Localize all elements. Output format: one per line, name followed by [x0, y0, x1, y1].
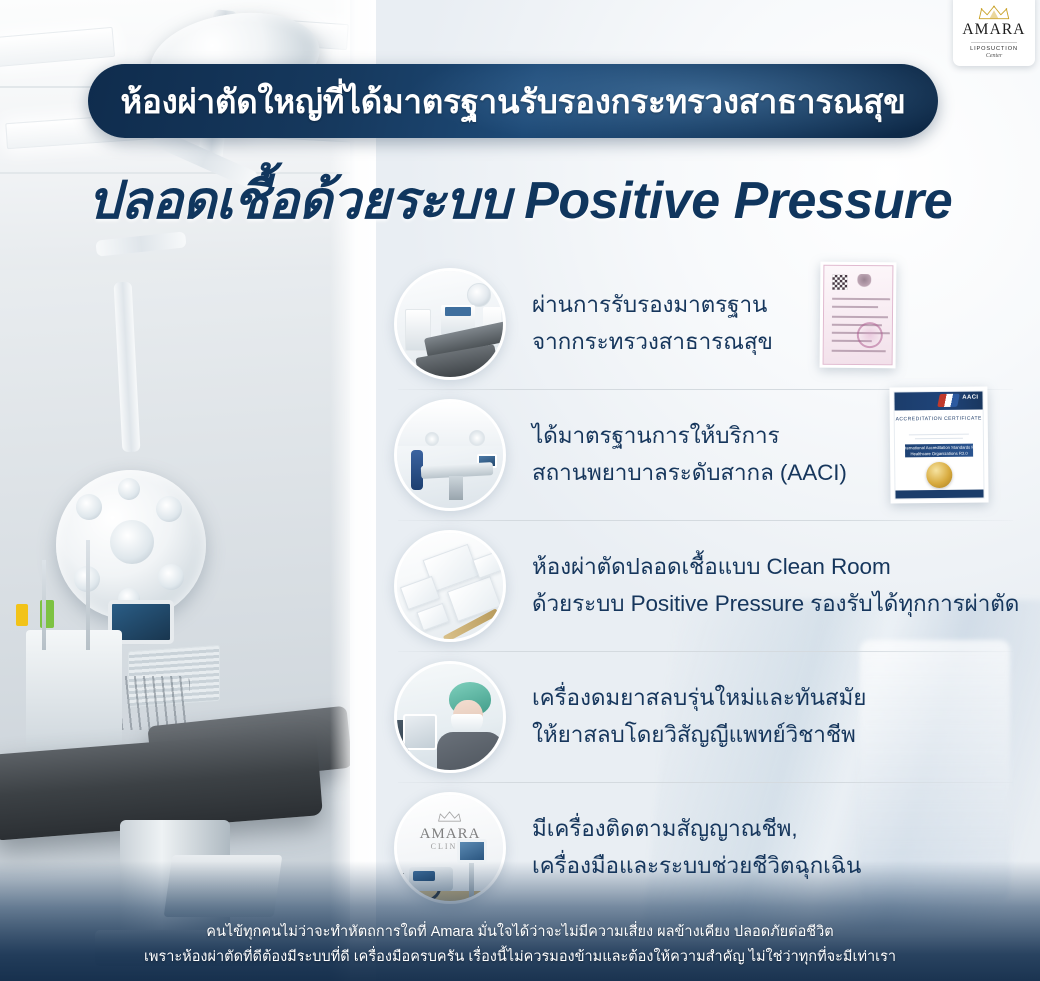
operating-room-photo-thumb [394, 268, 506, 380]
qr-code-icon [832, 275, 847, 290]
list-item-line-1: ได้มาตรฐานการให้บริการ [532, 418, 847, 454]
list-item-line-2: ด้วยระบบ Positive Pressure รองรับได้ทุกก… [532, 586, 1019, 622]
list-item-line-2: ให้ยาสลบโดยวิสัญญีแพทย์วิชาชีพ [532, 717, 866, 753]
footer-line-2: เพราะห้องผ่าตัดที่ดีต้องมีระบบที่ดี เครื… [144, 945, 896, 969]
operating-theatre-photo-thumb [394, 399, 506, 511]
footer-line-1: คนไข้ทุกคนไม่ว่าจะทำหัตถการใดที่ Amara ม… [206, 920, 833, 944]
list-item-text: เครื่องดมยาสลบรุ่นใหม่และทันสมัย ให้ยาสล… [532, 680, 866, 753]
logo-subtitle: LIPOSUCTION [970, 46, 1018, 52]
list-item-line-1: เครื่องดมยาสลบรุ่นใหม่และทันสมัย [532, 680, 866, 716]
ministry-certificate-image [820, 262, 897, 369]
list-item-text: ผ่านการรับรองมาตรฐาน จากกระทรวงสาธารณสุข [532, 287, 773, 360]
logo-subtitle-2: Center [986, 53, 1002, 59]
equipment-cart [26, 630, 122, 750]
gold-medal-icon [926, 462, 952, 488]
page-title: ปลอดเชื้อด้วยระบบ Positive Pressure [0, 158, 1040, 241]
headline-pill: ห้องผ่าตัดใหญ่ที่ได้มาตรฐานรับรองกระทรวง… [88, 64, 938, 138]
list-item-line-2: จากกระทรวงสาธารณสุข [532, 324, 773, 360]
crown-icon [437, 811, 463, 822]
list-item: ได้มาตรฐานการให้บริการ สถานพยาบาลระดับสา… [380, 389, 1040, 520]
certificate-band-text: International Accreditation Standards fo… [895, 445, 983, 459]
pill-text: ห้องผ่าตัดใหญ่ที่ได้มาตรฐานรับรองกระทรวง… [120, 75, 905, 128]
list-item: เครื่องดมยาสลบรุ่นใหม่และทันสมัย ให้ยาสล… [380, 651, 1040, 782]
list-item-line-1: ห้องผ่าตัดปลอดเชื้อแบบ Clean Room [532, 549, 1019, 585]
logo-wordmark: AMARA [962, 22, 1025, 38]
crown-icon [977, 5, 1011, 20]
certificate-title: ACCREDITATION CERTIFICATE [895, 416, 983, 424]
list-item-text: ได้มาตรฐานการให้บริการ สถานพยาบาลระดับสา… [532, 418, 847, 491]
list-item-line-1: ผ่านการรับรองมาตรฐาน [532, 287, 773, 323]
aaci-certificate-image: AACI ACCREDITATION CERTIFICATE Internati… [889, 386, 988, 503]
flags-icon [937, 394, 960, 407]
clean-room-ceiling-photo-thumb [394, 530, 506, 642]
iv-pole [86, 540, 90, 650]
aaci-badge-label: AACI [962, 395, 978, 401]
amara-logo[interactable]: AMARA LIPOSUCTION Center [953, 0, 1035, 66]
surgical-light-post [114, 282, 141, 453]
iv-pole [42, 560, 46, 650]
footer-disclaimer: คนไข้ทุกคนไม่ว่าจะทำหัตถการใดที่ Amara ม… [0, 861, 1040, 981]
feature-list: ผ่านการรับรองมาตรฐาน จากกระทรวงสาธารณสุข [380, 258, 1040, 913]
list-item-line-1: มีเครื่องติดตามสัญญาณชีพ, [532, 811, 861, 847]
list-item: ห้องผ่าตัดปลอดเชื้อแบบ Clean Room ด้วยระ… [380, 520, 1040, 651]
logo-divider [971, 42, 1017, 43]
anesthesiologist-photo-thumb [394, 661, 506, 773]
wall-marker [16, 604, 28, 626]
list-item-text: ห้องผ่าตัดปลอดเชื้อแบบ Clean Room ด้วยระ… [532, 549, 1019, 622]
garuda-emblem-icon [857, 274, 871, 288]
list-item: ผ่านการรับรองมาตรฐาน จากกระทรวงสาธารณสุข [380, 258, 1040, 389]
official-seal-icon [857, 322, 883, 348]
poster-root: AMARA LIPOSUCTION Center ห้องผ่าตัดใหญ่ท… [0, 0, 1040, 981]
list-item-line-2: สถานพยาบาลระดับสากล (AACI) [532, 455, 847, 491]
operating-room-background-photo [0, 0, 352, 981]
surgical-light-head [56, 470, 206, 620]
